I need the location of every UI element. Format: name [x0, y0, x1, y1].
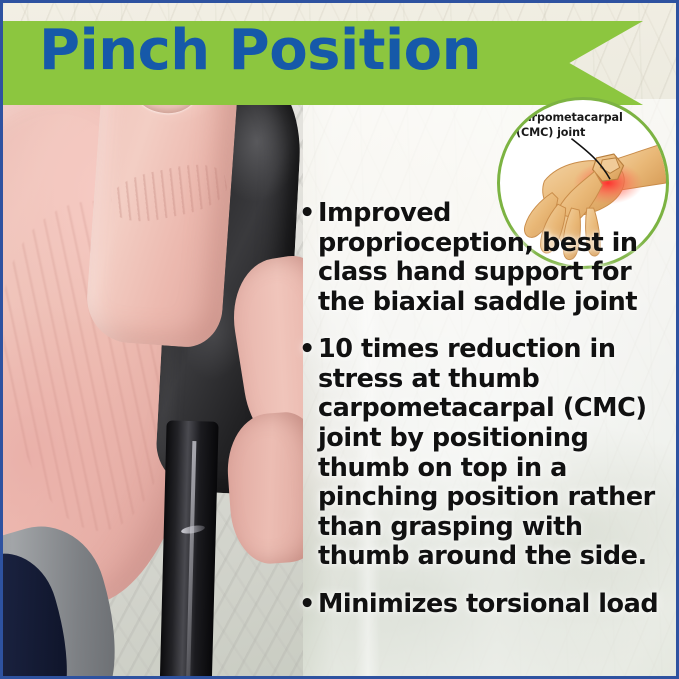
cmc-label-line-1: Carpometacarpal [516, 111, 654, 126]
feature-bullet: Minimizes torsional load [299, 590, 671, 620]
hand-gripping-cane-photo [3, 21, 303, 679]
cmc-label-line-2: (CMC) joint [516, 126, 654, 141]
product-feature-poster: Pinch Position [0, 0, 679, 679]
feature-bullet: Improved proprioception, best in class h… [299, 199, 671, 317]
cmc-joint-label: Carpometacarpal (CMC) joint [516, 111, 654, 141]
page-title: Pinch Position [39, 23, 481, 79]
feature-bullet: 10 times reduction in stress at thumb ca… [299, 335, 671, 572]
feature-bullet-list: Improved proprioception, best in class h… [299, 199, 671, 620]
